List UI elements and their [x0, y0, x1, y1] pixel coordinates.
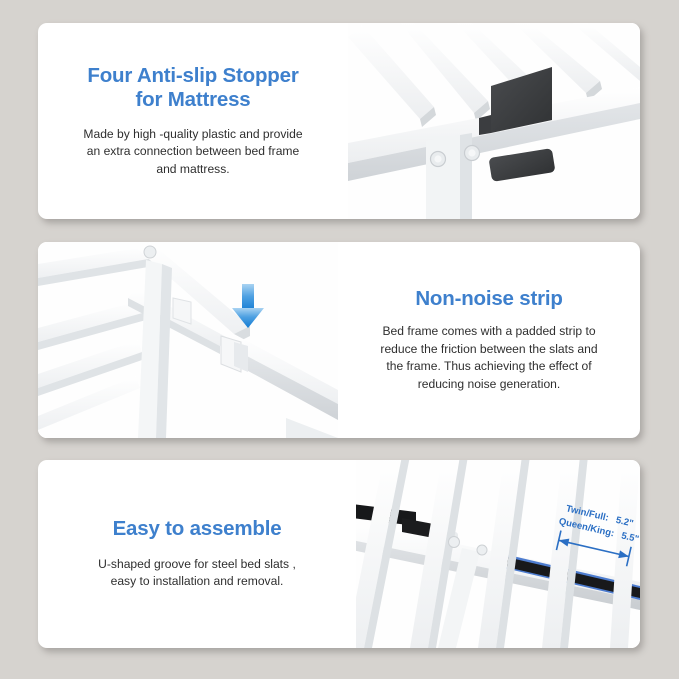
card-1-heading: Four Anti-slip Stopper for Mattress	[87, 64, 298, 112]
card-1-heading-line-2: for Mattress	[136, 88, 251, 111]
feature-card-anti-slip-stopper: Four Anti-slip Stopper for Mattress Made…	[38, 23, 640, 219]
card-3-heading: Easy to assemble	[113, 517, 282, 541]
screw-icon	[449, 537, 460, 548]
bed-frame-corner-illustration	[38, 242, 338, 438]
card-1-image	[348, 23, 640, 219]
bolt-icon	[144, 246, 156, 258]
bed-slats-groove-illustration: Twin/Full: 5.2" Queen/King: 5.5"	[356, 460, 640, 648]
bed-frame-stopper-illustration	[348, 23, 640, 219]
feature-card-non-noise-strip: Non-noise strip Bed frame comes with a p…	[38, 242, 640, 438]
card-2-image	[38, 242, 338, 438]
card-3-body: U-shaped groove for steel bed slats , ea…	[89, 556, 305, 591]
card-1-text-pane: Four Anti-slip Stopper for Mattress Made…	[38, 23, 348, 219]
infographic-board: Four Anti-slip Stopper for Mattress Made…	[0, 0, 679, 679]
screw-icon	[477, 545, 487, 555]
leg-bracket	[426, 135, 460, 219]
card-1-heading-line-1: Four Anti-slip Stopper	[87, 64, 298, 87]
card-3-text-pane: Easy to assemble U-shaped groove for ste…	[38, 460, 356, 648]
feature-card-easy-to-assemble: Easy to assemble U-shaped groove for ste…	[38, 460, 640, 648]
card-2-text-pane: Non-noise strip Bed frame comes with a p…	[338, 242, 640, 438]
card-2-heading: Non-noise strip	[415, 287, 562, 311]
card-1-body: Made by high -quality plastic and provid…	[77, 126, 309, 179]
card-3-image: Twin/Full: 5.2" Queen/King: 5.5"	[356, 460, 640, 648]
card-2-body: Bed frame comes with a padded strip to r…	[379, 323, 599, 393]
